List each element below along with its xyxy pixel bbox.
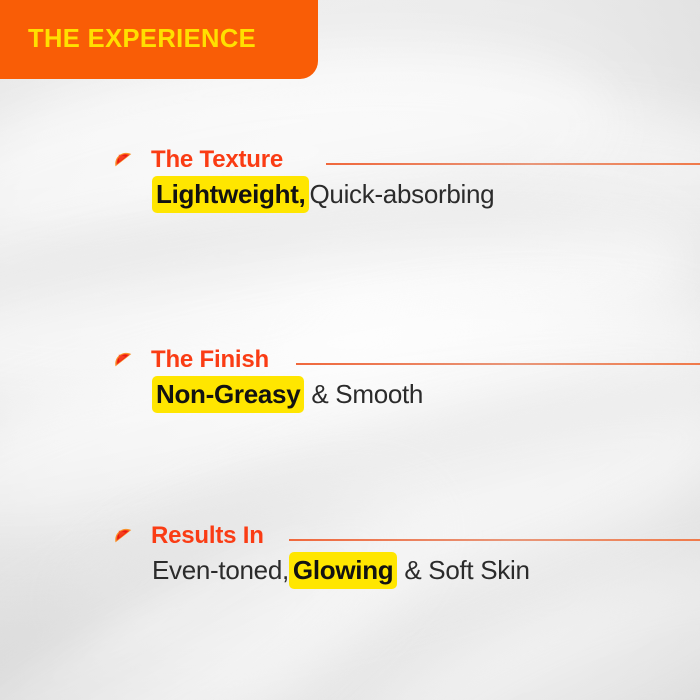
feature-row: The Finish Non-Greasy & Smooth [0, 346, 700, 378]
feature-divider-line [289, 539, 700, 541]
feature-heading: The Texture [0, 146, 700, 178]
experience-infographic: THE EXPERIENCE The Texture Lightweight,Q… [0, 0, 700, 700]
feature-title: The Texture [151, 146, 283, 174]
grapefruit-slice-icon [110, 524, 138, 550]
grapefruit-slice-icon [110, 148, 138, 174]
feature-title: Results In [151, 522, 264, 550]
feature-row: The Texture Lightweight,Quick-absorbing [0, 146, 700, 178]
feature-divider-line [326, 163, 700, 165]
feature-plain-text: & Soft Skin [404, 555, 529, 585]
feature-description: Even-toned,Glowing & Soft Skin [152, 555, 530, 586]
feature-heading: Results In [0, 522, 700, 554]
feature-description: Non-Greasy & Smooth [152, 379, 423, 410]
grapefruit-slice-icon [110, 348, 138, 374]
feature-plain-text: Quick-absorbing [309, 179, 494, 209]
feature-description: Lightweight,Quick-absorbing [152, 179, 494, 210]
feature-prefix-text: Even-toned, [152, 555, 289, 585]
feature-highlight-text: Non-Greasy [152, 376, 304, 413]
section-badge: THE EXPERIENCE [0, 0, 318, 79]
feature-highlight-text: Glowing [289, 552, 397, 589]
feature-title: The Finish [151, 346, 269, 374]
feature-row: Results In Even-toned,Glowing & Soft Ski… [0, 522, 700, 554]
feature-heading: The Finish [0, 346, 700, 378]
feature-divider-line [296, 363, 700, 365]
feature-plain-text: & Smooth [311, 379, 423, 409]
section-badge-label: THE EXPERIENCE [0, 25, 256, 54]
feature-highlight-text: Lightweight, [152, 176, 309, 213]
